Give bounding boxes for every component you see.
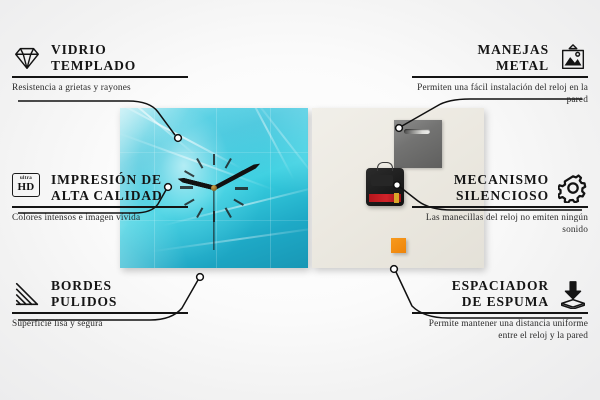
quartz-mechanism [366, 168, 404, 206]
gear-icon [558, 173, 588, 203]
callout-description: Colores intensos e imagen vívida [12, 212, 188, 225]
picture-frame-hanger-icon [558, 43, 588, 73]
hanger-slot [404, 129, 430, 134]
callout-description: Superficie lisa y segura [12, 318, 188, 331]
battery-contact [394, 193, 399, 203]
polished-edges-icon [12, 279, 42, 309]
divider [12, 312, 188, 314]
callout-title-line1: MANEJAS [477, 42, 549, 57]
callout-espaciador-espuma: ESPACIADORDE ESPUMA Permite mantener una… [412, 278, 588, 343]
clock-center-hub [211, 185, 217, 191]
callout-bordes-pulidos: BORDESPULIDOS Superficie lisa y segura [12, 278, 188, 330]
divider [12, 206, 188, 208]
ultra-hd-large-label: HD [17, 182, 34, 193]
infographic-canvas: VIDRIOTEMPLADO Resistencia a grietas y r… [0, 0, 600, 400]
callout-title-line1: BORDES [51, 278, 112, 293]
callout-title-line1: ESPACIADOR [452, 278, 549, 293]
callout-description: Permite mantener una distancia uniforme … [412, 318, 588, 343]
callout-impresion-alta-calidad: ultra HD IMPRESIÓN DEALTA CALIDAD Colore… [12, 172, 188, 224]
mechanism-hook [377, 162, 393, 171]
callout-title-line2: ALTA CALIDAD [51, 188, 163, 203]
callout-mecanismo-silencioso: MECANISMOSILENCIOSO Las manecillas del r… [412, 172, 588, 237]
foam-spacer-pad [391, 238, 406, 253]
callout-description: Las manecillas del reloj no emiten ningú… [412, 212, 588, 237]
divider [412, 206, 588, 208]
foam-spacer-arrow-icon [558, 279, 588, 309]
divider [412, 312, 588, 314]
hanger-plate [394, 120, 442, 168]
divider [12, 76, 188, 78]
callout-vidrio-templado: VIDRIOTEMPLADO Resistencia a grietas y r… [12, 42, 188, 94]
mechanism-body [371, 175, 393, 186]
callout-title-line1: IMPRESIÓN DE [51, 172, 162, 187]
callout-title-line1: VIDRIO [51, 42, 107, 57]
callout-manejas-metal: MANEJASMETAL Permiten una fácil instalac… [412, 42, 588, 107]
callout-title-line2: SILENCIOSO [456, 188, 549, 203]
callout-title-line2: METAL [496, 58, 549, 73]
divider [412, 76, 588, 78]
callout-title-line1: MECANISMO [454, 172, 549, 187]
callout-title-line2: DE ESPUMA [462, 294, 549, 309]
callout-title-line2: TEMPLADO [51, 58, 136, 73]
ultra-hd-icon: ultra HD [12, 173, 42, 203]
callout-description: Permiten una fácil instalación del reloj… [412, 82, 588, 107]
callout-description: Resistencia a grietas y rayones [12, 82, 188, 95]
callout-title-line2: PULIDOS [51, 294, 117, 309]
diamond-icon [12, 43, 42, 73]
